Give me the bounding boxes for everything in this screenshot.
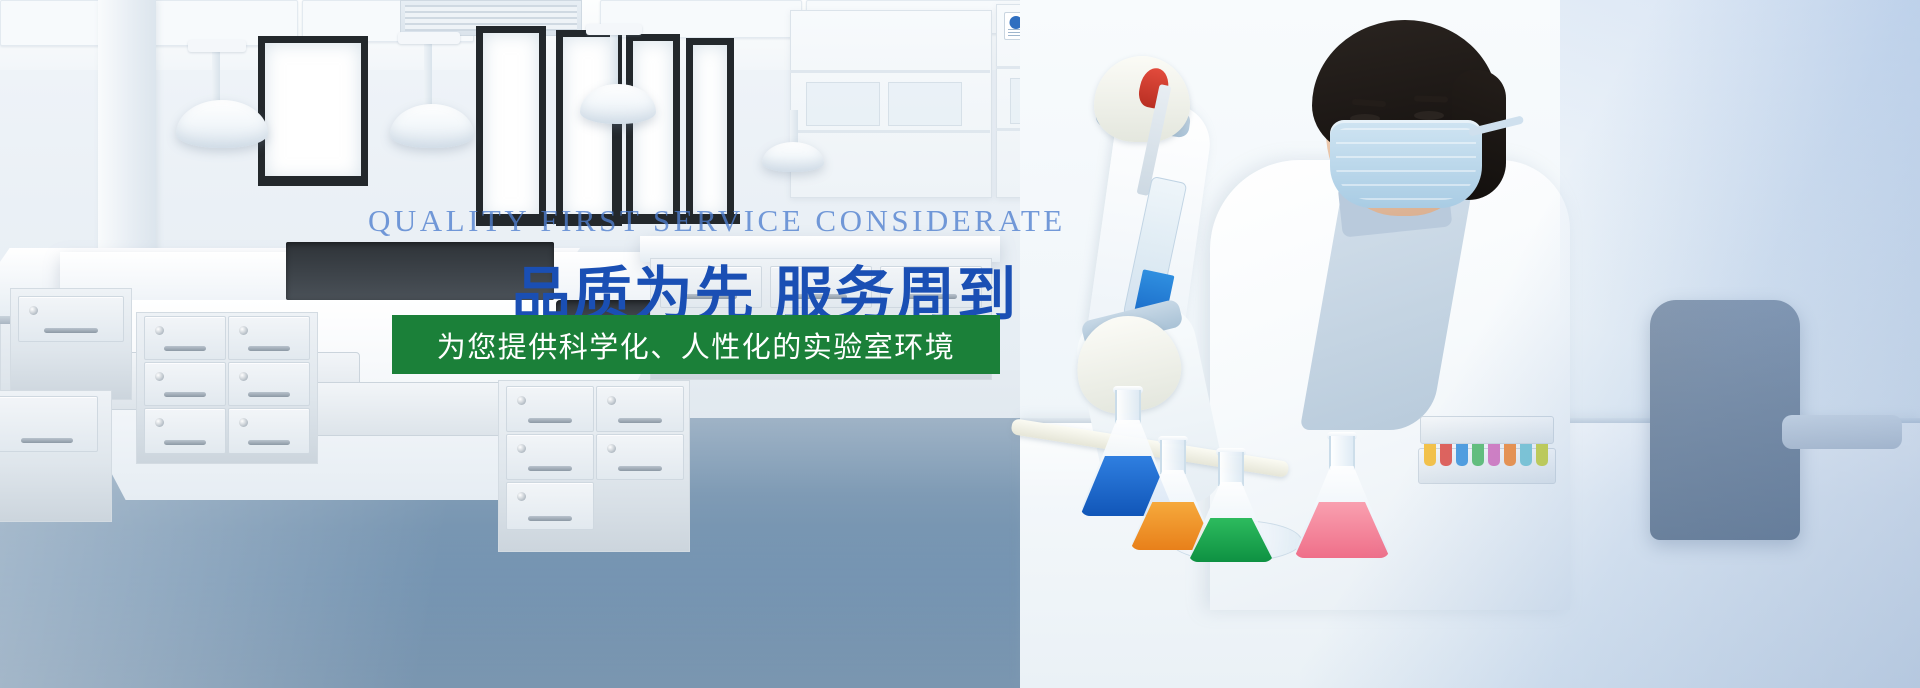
banner-text-overlay: QUALITY FIRST SERVICE CONSIDERATE 品质为先 服… — [0, 0, 1920, 688]
banner-subtitle-band: 为您提供科学化、人性化的实验室环境 — [392, 315, 1000, 374]
hero-banner: QUALITY FIRST SERVICE CONSIDERATE 品质为先 服… — [0, 0, 1920, 688]
banner-eyebrow-text: QUALITY FIRST SERVICE CONSIDERATE — [368, 203, 1028, 239]
banner-subtitle-text: 为您提供科学化、人性化的实验室环境 — [437, 324, 956, 366]
